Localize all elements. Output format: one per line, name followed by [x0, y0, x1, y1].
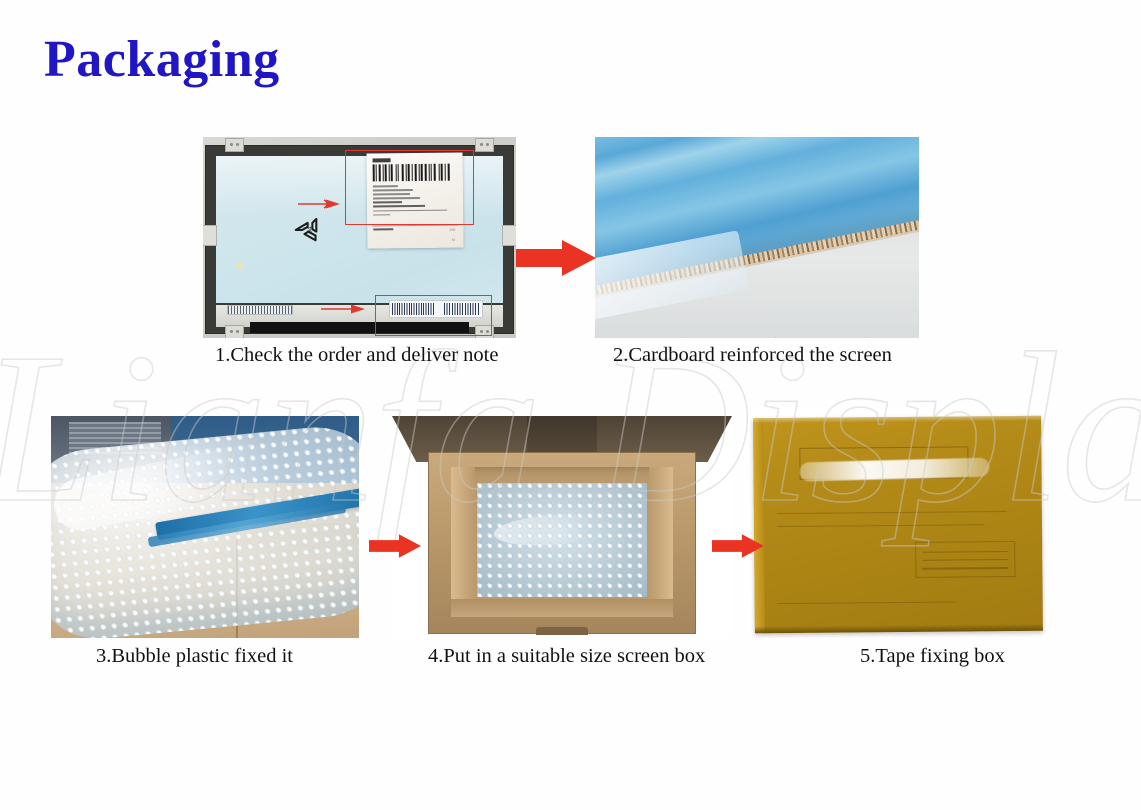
panel-model-sticker [227, 305, 293, 315]
step-4-caption: 4.Put in a suitable size screen box [428, 645, 705, 668]
step-5-image [742, 407, 1048, 638]
arrow-step3-to-step4 [369, 530, 421, 562]
arrow-step1-to-step2 [516, 240, 596, 276]
lcd-mount-tab [475, 138, 494, 152]
step-5-caption: 5.Tape fixing box [860, 645, 1005, 668]
annotation-box-barcode [375, 295, 492, 336]
step-1-caption: 1.Check the order and deliver note [215, 344, 498, 367]
step-3-image [51, 416, 359, 638]
step-1-image: 04 [203, 137, 516, 338]
recycling-symbol-icon: 04 [291, 211, 329, 249]
step-2-image [595, 137, 919, 338]
box-print-block [915, 541, 1015, 578]
bubble-shine [493, 511, 614, 549]
lcd-side-tab [203, 225, 217, 246]
step-4-image [392, 416, 732, 638]
cardboard-box [428, 452, 696, 634]
lcd-mount-tab [225, 138, 244, 152]
gold-taped-box [753, 416, 1043, 634]
annotation-arrow-lower [321, 304, 365, 316]
bubble-wrapped-contents [477, 483, 647, 597]
screen-dot [236, 262, 243, 269]
box-inner-wall-bottom [451, 599, 673, 617]
annotation-arrow-upper [298, 199, 340, 211]
svg-text:04: 04 [307, 226, 314, 234]
step-2-caption: 2.Cardboard reinforced the screen [613, 344, 892, 367]
step-3-caption: 3.Bubble plastic fixed it [96, 645, 293, 668]
page-title: Packaging [44, 34, 280, 86]
box-interior [451, 467, 673, 617]
packaging-page: Lianfa Display Packaging [0, 0, 1141, 810]
box-bottom-notch [536, 627, 588, 635]
arrow-step4-to-step5 [712, 530, 764, 562]
lcd-side-tab [502, 225, 516, 246]
box-inner-wall-left [451, 467, 475, 617]
lcd-mount-tab [225, 325, 244, 338]
box-inner-wall-right [649, 467, 673, 617]
annotation-box-label [345, 150, 474, 225]
tape-left-fold [753, 418, 765, 633]
